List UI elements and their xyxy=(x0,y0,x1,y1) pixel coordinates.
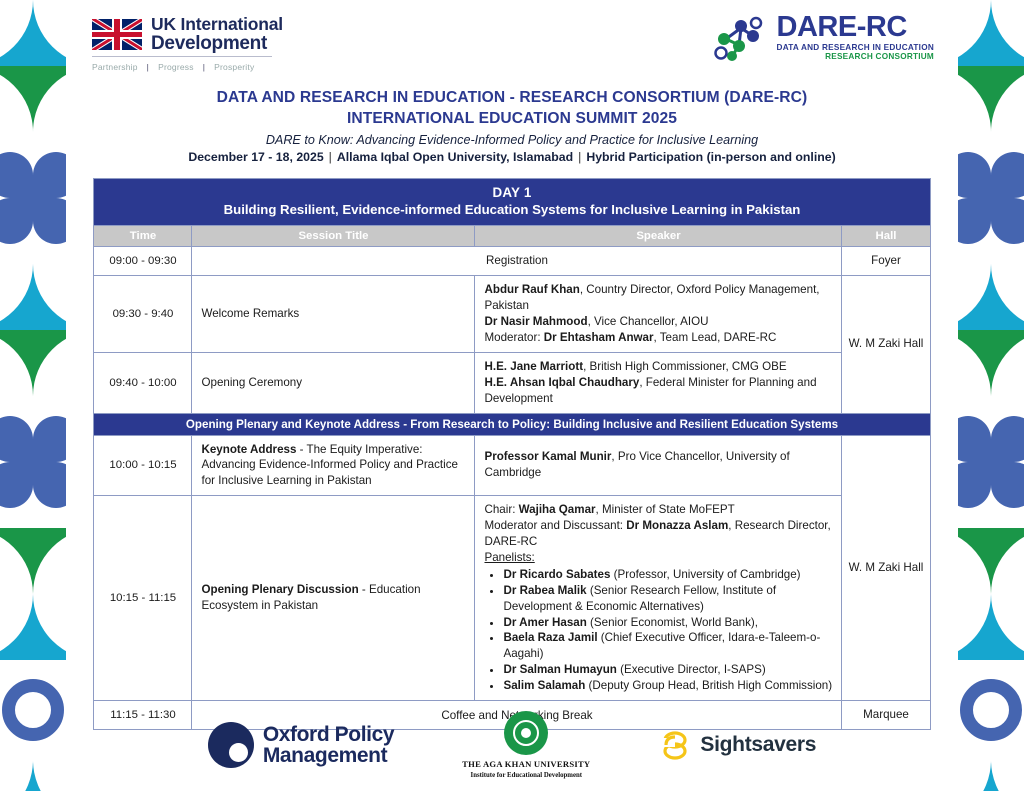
row-hall: Foyer xyxy=(842,247,930,276)
decor-tile-green xyxy=(0,66,66,132)
decor-tile-petal xyxy=(0,396,66,528)
day-theme: Building Resilient, Evidence-informed Ed… xyxy=(98,202,925,217)
decor-tile-cyan xyxy=(958,264,1024,330)
row-speaker: Professor Kamal Munir, Pro Vice Chancell… xyxy=(475,435,842,495)
row-speaker: H.E. Jane Marriott, British High Commiss… xyxy=(475,352,842,413)
dare-logo-sub2: RESEARCH CONSORTIUM xyxy=(777,53,934,61)
row-time: 09:40 - 10:00 xyxy=(94,352,192,413)
chair-role: , Minister of State MoFEPT xyxy=(596,503,735,516)
list-item: Salim Salamah (Deputy Group Head, Britis… xyxy=(503,678,832,694)
meta-sep-2: | xyxy=(578,150,581,164)
decor-tile-ring xyxy=(0,660,66,760)
row-time: 10:15 - 11:15 xyxy=(94,495,192,701)
decor-tile-cyan xyxy=(958,594,1024,660)
strap-prosperity: Prosperity xyxy=(214,62,254,72)
decor-tile-cyan xyxy=(0,760,66,791)
decor-tile-cyan xyxy=(0,0,66,66)
speaker-name: Professor Kamal Munir xyxy=(484,450,611,463)
panelists-label: Panelists: xyxy=(484,550,832,566)
panelist-role: (Executive Director, I-SAPS) xyxy=(617,663,766,676)
day-label: DAY 1 xyxy=(98,185,925,200)
moderator-prefix: Moderator and Discussant: xyxy=(484,519,626,532)
event-title-line2: INTERNATIONAL EDUCATION SUMMIT 2025 xyxy=(66,109,958,130)
column-header-speaker: Speaker xyxy=(475,226,842,247)
oxford-policy-management-logo: Oxford Policy Management xyxy=(208,722,394,768)
speaker-entry: Professor Kamal Munir, Pro Vice Chancell… xyxy=(484,449,832,481)
row-hall: W. M Zaki Hall xyxy=(842,435,930,701)
table-row: 10:00 - 10:15 Keynote Address - The Equi… xyxy=(94,435,930,495)
uk-flag-icon xyxy=(92,19,142,50)
decor-tile-stack-left xyxy=(0,0,66,791)
list-item: Dr Amer Hasan (Senior Economist, World B… xyxy=(503,615,832,631)
row-time: 10:00 - 10:15 xyxy=(94,435,192,495)
plenary-banner: Opening Plenary and Keynote Address - Fr… xyxy=(94,413,930,435)
event-mode: Hybrid Participation (in-person and onli… xyxy=(586,150,835,164)
dare-network-icon xyxy=(709,12,767,62)
event-title-line1: DATA AND RESEARCH IN EDUCATION - RESEARC… xyxy=(66,88,958,109)
event-subtitle: DARE to Know: Advancing Evidence-Informe… xyxy=(66,133,958,147)
event-venue: Allama Iqbal Open University, Islamabad xyxy=(337,150,573,164)
decorative-border-right xyxy=(958,0,1024,791)
decor-tile-green xyxy=(0,330,66,396)
chair-name: Wajiha Qamar xyxy=(519,503,596,516)
chair-prefix: Chair: xyxy=(484,503,518,516)
column-header-hall: Hall xyxy=(842,226,930,247)
panelist-name: Dr Ricardo Sabates xyxy=(503,568,610,581)
row-time: 09:00 - 09:30 xyxy=(94,247,192,276)
decor-tile-cyan xyxy=(0,594,66,660)
row-session: Welcome Remarks xyxy=(192,275,475,352)
row-speaker: Abdur Rauf Khan, Country Director, Oxfor… xyxy=(475,275,842,352)
table-row: 09:30 - 9:40 Welcome Remarks Abdur Rauf … xyxy=(94,275,930,352)
decor-tile-cyan xyxy=(0,264,66,330)
opm-line1: Oxford Policy xyxy=(263,724,394,745)
panelist-role: (Senior Economist, World Bank), xyxy=(587,616,758,629)
row-registration-label: Registration xyxy=(192,247,842,276)
uk-logo-strapline: Partnership|Progress|Prosperity xyxy=(92,62,283,72)
event-title-block: DATA AND RESEARCH IN EDUCATION - RESEARC… xyxy=(66,88,958,164)
row-hall: W. M Zaki Hall xyxy=(842,275,930,413)
speaker-role: , British High Commissioner, CMG OBE xyxy=(583,360,787,373)
decor-tile-petal xyxy=(0,132,66,264)
plenary-banner-row: Opening Plenary and Keynote Address - Fr… xyxy=(94,413,930,435)
speaker-name: H.E. Ahsan Iqbal Chaudhary xyxy=(484,376,639,389)
speaker-role: , Vice Chancellor, AIOU xyxy=(588,315,709,328)
speaker-name: Abdur Rauf Khan xyxy=(484,283,579,296)
decor-tile-stack-right xyxy=(958,0,1024,791)
speaker-name: Dr Nasir Mahmood xyxy=(484,315,587,328)
column-header-time: Time xyxy=(94,226,192,247)
row-time: 09:30 - 9:40 xyxy=(94,275,192,352)
sightsavers-logo: Sightsavers xyxy=(658,728,816,762)
uk-logo-line2: Development xyxy=(151,34,283,53)
row-speaker: Chair: Wajiha Qamar, Minister of State M… xyxy=(475,495,842,701)
list-item: Dr Rabea Malik (Senior Research Fellow, … xyxy=(503,583,832,615)
dare-rc-logo: DARE-RC DATA AND RESEARCH IN EDUCATION R… xyxy=(709,12,934,62)
dare-logo-title: DARE-RC xyxy=(777,13,934,42)
logo-bar: UK International Development Partnership… xyxy=(66,0,958,86)
decor-tile-cyan xyxy=(958,760,1024,791)
decor-tile-green xyxy=(958,528,1024,594)
row-session: Opening Plenary Discussion - Education E… xyxy=(192,495,475,701)
aku-line1: THE AGA KHAN UNIVERSITY xyxy=(462,759,590,769)
row-session: Opening Ceremony xyxy=(192,352,475,413)
strap-progress: Progress xyxy=(158,62,194,72)
speaker-entry: Moderator: Dr Ehtasham Anwar, Team Lead,… xyxy=(484,330,832,346)
row-session: Keynote Address - The Equity Imperative:… xyxy=(192,435,475,495)
sightsavers-wordmark: Sightsavers xyxy=(700,733,816,757)
uk-international-development-logo: UK International Development Partnership… xyxy=(92,12,283,72)
aga-khan-university-logo: THE AGA KHAN UNIVERSITY Institute for Ed… xyxy=(462,711,590,779)
table-row: 09:40 - 10:00 Opening Ceremony H.E. Jane… xyxy=(94,352,930,413)
list-item: Dr Ricardo Sabates (Professor, Universit… xyxy=(503,567,832,583)
table-row: 10:15 - 11:15 Opening Plenary Discussion… xyxy=(94,495,930,701)
uk-logo-line1: UK International xyxy=(151,16,283,34)
day-banner-row: DAY 1 Building Resilient, Evidence-infor… xyxy=(94,179,930,226)
strap-partnership: Partnership xyxy=(92,62,138,72)
table-row: 09:00 - 09:30 Registration Foyer xyxy=(94,247,930,276)
agenda-table: DAY 1 Building Resilient, Evidence-infor… xyxy=(93,178,930,730)
list-item: Baela Raza Jamil (Chief Executive Office… xyxy=(503,630,832,662)
panelist-name: Dr Rabea Malik xyxy=(503,584,586,597)
event-meta: December 17 - 18, 2025|Allama Iqbal Open… xyxy=(66,150,958,164)
panelists-list: Dr Ricardo Sabates (Professor, Universit… xyxy=(484,567,832,695)
speaker-role: , Team Lead, DARE-RC xyxy=(654,331,777,344)
poster-content: UK International Development Partnership… xyxy=(66,0,958,791)
day-banner: DAY 1 Building Resilient, Evidence-infor… xyxy=(94,179,930,226)
dare-logo-sub1: DATA AND RESEARCH IN EDUCATION xyxy=(777,44,934,52)
speaker-name: Dr Ehtasham Anwar xyxy=(544,331,654,344)
moderator-entry: Moderator and Discussant: Dr Monazza Asl… xyxy=(484,518,832,550)
table-header-row: Time Session Title Speaker Hall xyxy=(94,226,930,247)
moderator-name: Dr Monazza Aslam xyxy=(626,519,728,532)
list-item: Dr Salman Humayun (Executive Director, I… xyxy=(503,662,832,678)
decor-tile-green xyxy=(0,528,66,594)
opm-circle-icon xyxy=(208,722,254,768)
panelist-name: Salim Salamah xyxy=(503,679,585,692)
column-header-session: Session Title xyxy=(192,226,475,247)
sightsavers-eye-icon xyxy=(658,728,692,762)
speaker-name: H.E. Jane Marriott xyxy=(484,360,583,373)
speaker-entry: H.E. Jane Marriott, British High Commiss… xyxy=(484,359,832,375)
decor-tile-ring xyxy=(958,660,1024,760)
session-title-bold: Opening Plenary Discussion xyxy=(201,583,358,596)
speaker-entry: Abdur Rauf Khan, Country Director, Oxfor… xyxy=(484,282,832,314)
decor-tile-cyan xyxy=(958,0,1024,66)
panelist-name: Baela Raza Jamil xyxy=(503,631,597,644)
opm-line2: Management xyxy=(263,745,394,766)
uk-logo-divider xyxy=(92,56,272,57)
chair-entry: Chair: Wajiha Qamar, Minister of State M… xyxy=(484,502,832,518)
speaker-entry: H.E. Ahsan Iqbal Chaudhary, Federal Mini… xyxy=(484,375,832,407)
panelist-name: Dr Amer Hasan xyxy=(503,616,586,629)
panelist-role: (Deputy Group Head, British High Commiss… xyxy=(585,679,832,692)
event-date: December 17 - 18, 2025 xyxy=(188,150,323,164)
meta-sep-1: | xyxy=(329,150,332,164)
aku-line2: Institute for Educational Development xyxy=(462,772,590,779)
decor-tile-petal xyxy=(958,396,1024,528)
decor-tile-green xyxy=(958,66,1024,132)
decor-tile-green xyxy=(958,330,1024,396)
panelist-name: Dr Salman Humayun xyxy=(503,663,616,676)
session-title-bold: Keynote Address xyxy=(201,443,296,456)
speaker-entry: Dr Nasir Mahmood, Vice Chancellor, AIOU xyxy=(484,314,832,330)
partner-logo-bar: Oxford Policy Management THE AGA KHAN UN… xyxy=(66,711,958,779)
decorative-border-left xyxy=(0,0,66,791)
panelist-role: (Professor, University of Cambridge) xyxy=(610,568,800,581)
moderator-prefix: Moderator: xyxy=(484,331,543,344)
decor-tile-petal xyxy=(958,132,1024,264)
aku-seal-icon xyxy=(504,711,548,755)
